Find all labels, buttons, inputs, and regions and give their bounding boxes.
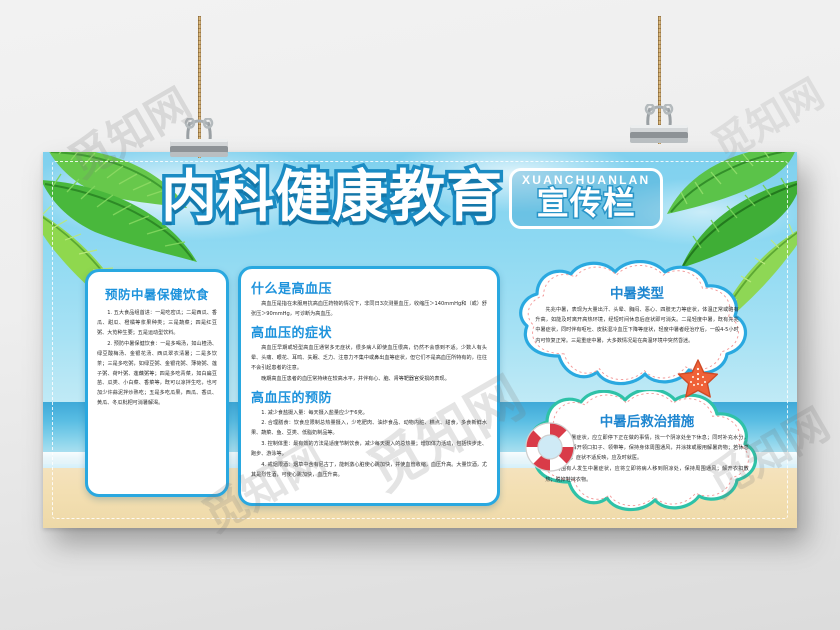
card-hypertension[interactable]: 什么是高血压 高血压是指在未服用抗高血压药物的情况下，非同日3次测量血压，收缩压…: [238, 266, 500, 506]
cloud-body-heatstroke-types: 先兆中暑，表现为大量出汗、头晕、胸闷、恶心、四肢无力等症状，体温正常或略有升高，…: [535, 305, 738, 347]
paragraph: 晚期高血压患者的血压常持续在较高水平，并伴有心、脑、肾等靶器官受损的表现。: [251, 375, 487, 385]
section-title-prevention: 高血压的预防: [251, 387, 487, 406]
card-heat-diet[interactable]: 预防中暑保健饮食 1. 五大食品组首进：一是吃密瓜；二是西瓜、香瓜、甜瓜、橙橘等…: [85, 269, 229, 497]
badge-label: 宣传栏: [522, 187, 650, 221]
paragraph: 先兆中暑，表现为大量出汗、头晕、胸闷、恶心、四肢无力等症状，体温正常或略有升高，…: [535, 305, 738, 346]
poster-banner: 内科健康教育 XUANCHUANLAN 宣传栏 预防中暑保健饮食 1. 五大食品…: [43, 152, 797, 528]
life-ring-icon: [523, 420, 577, 479]
starfish-icon: [677, 358, 719, 405]
section-title-symptoms: 高血压的症状: [251, 322, 487, 341]
paragraph: 1. 五大食品组首进：一是吃密瓜；二是西瓜、香瓜、甜瓜、橙橘等浆果种类；三是蔬菜…: [97, 309, 217, 339]
binder-clip-left: [168, 118, 230, 171]
card-title-heat-diet: 预防中暑保健饮食: [97, 284, 217, 303]
paragraph: 高血压是指在未服用抗高血压药物的情况下，非同日3次测量血压，收缩压＞140mmH…: [251, 300, 487, 320]
section-title-what-is-hypertension: 什么是高血压: [251, 278, 487, 297]
card-body-heat-diet: 1. 五大食品组首进：一是吃密瓜；二是西瓜、香瓜、甜瓜、橙橘等浆果种类；三是蔬菜…: [97, 309, 217, 409]
paragraph: 3. 控制体重：最有效的方法是适度节制饮食，减少每天摄入的总热量；增加体力活动，…: [251, 440, 487, 460]
binder-clip-right: [628, 104, 690, 157]
paragraph: 1. 减少食盐摄入量：每天摄入盐量应少于6克。: [251, 409, 487, 419]
paragraph: 4. 戒烟限酒：烟草中含有尼古丁，能刺激心脏使心跳加快，并使血管收缩，血压升高。…: [251, 461, 487, 481]
section-body-prevention: 1. 减少食盐摄入量：每天摄入盐量应少于6克。 2. 合理膳食：饮食应限制总热量…: [251, 409, 487, 481]
section-body-symptoms: 高血压早期或轻型高血压通常多无症状，很多病人即使血压很高，仍然不会感到不适。少数…: [251, 344, 487, 385]
banner-title-group: 内科健康教育 XUANCHUANLAN 宣传栏: [161, 168, 663, 229]
paragraph: 高血压早期或轻型高血压通常多无症状，很多病人即使血压很高，仍然不会感到不适。少数…: [251, 344, 487, 374]
status-badge: XUANCHUANLAN 宣传栏: [509, 168, 663, 229]
paragraph: 2. 合理膳食：饮食应限制总热量摄入，少吃肥肉、油炸食品、动物内脏、糕点、甜食，…: [251, 419, 487, 439]
cloud-heatstroke-types[interactable]: 中暑类型 先兆中暑，表现为大量出汗、头晕、胸闷、恶心、四肢无力等症状，体温正常或…: [513, 260, 761, 390]
page-title: 内科健康教育: [161, 170, 503, 226]
cloud-content-heatstroke-types: 中暑类型 先兆中暑，表现为大量出汗、头晕、胸闷、恶心、四肢无力等症状，体温正常或…: [535, 282, 738, 368]
cloud-title-heatstroke-types: 中暑类型: [535, 282, 738, 302]
section-body-what-is-hypertension: 高血压是指在未服用抗高血压药物的情况下，非同日3次测量血压，收缩压＞140mmH…: [251, 300, 487, 320]
paragraph: 2. 预防中暑保健饮食：一是多喝汤，如山楂汤、绿豆酸梅汤、金银花汤、西瓜翠衣清暑…: [97, 340, 217, 409]
